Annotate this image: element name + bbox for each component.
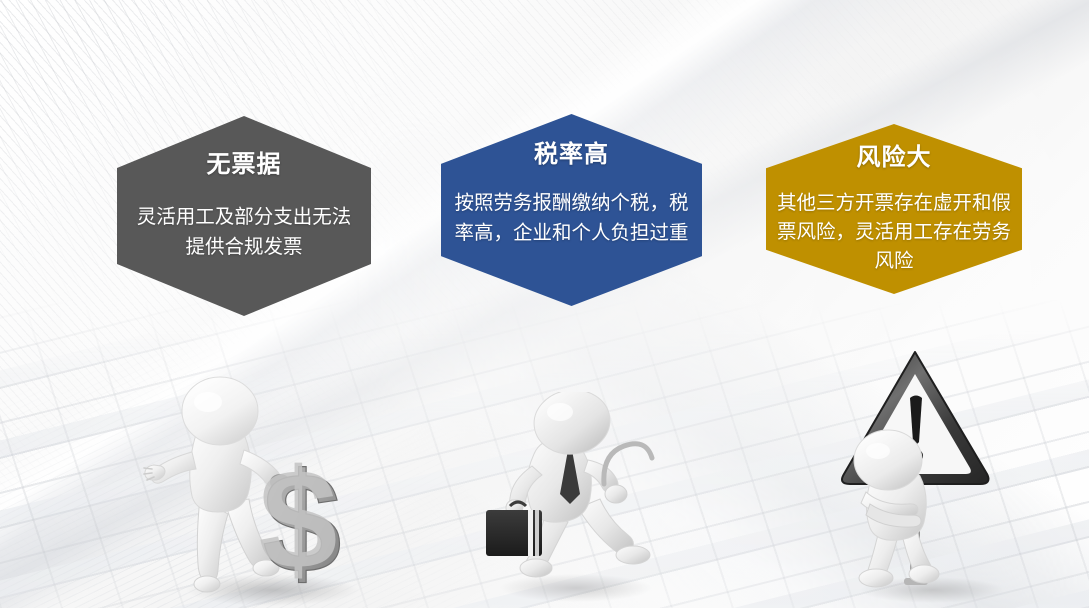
hexagon-card-body: 其他三方开票存在虚开和假票风险，灵活用工存在劳务风险 xyxy=(774,189,1014,276)
hexagon-card-high-risk[interactable]: 风险大 其他三方开票存在虚开和假票风险，灵活用工存在劳务风险 xyxy=(766,124,1022,294)
background-vignette xyxy=(0,0,1089,608)
svg-text:$: $ xyxy=(259,440,338,599)
background-window-rows xyxy=(0,300,1089,608)
background-facade-detail xyxy=(0,0,1089,608)
background-base xyxy=(0,0,1089,608)
hexagon-card-body: 按照劳务报酬缴纳个税，税率高，企业和个人负担过重 xyxy=(454,188,690,248)
hexagon-card-no-invoice[interactable]: 无票据 灵活用工及部分支出无法提供合规发票 xyxy=(117,116,371,316)
background-light-streak-secondary xyxy=(0,0,1089,608)
hexagon-card-title: 无票据 xyxy=(207,150,282,180)
hexagon-card-high-tax[interactable]: 税率高 按照劳务报酬缴纳个税，税率高，企业和个人负担过重 xyxy=(441,114,702,306)
hexagon-card-title: 税率高 xyxy=(534,140,609,170)
background-ridge-top-right xyxy=(0,0,1089,608)
background-window-columns xyxy=(0,300,1089,608)
hexagon-card-body: 灵活用工及部分支出无法提供合规发票 xyxy=(132,202,356,262)
background-window-panels xyxy=(0,330,1089,608)
businessman-figure-illustration xyxy=(468,392,678,608)
background-stairs-lower-left xyxy=(0,0,1089,608)
background-light-streak-primary xyxy=(0,0,1089,608)
svg-text:$: $ xyxy=(263,444,342,603)
hexagon-card-title: 风险大 xyxy=(857,143,932,173)
background-facade-upper-left xyxy=(0,0,1089,608)
dollar-figure-illustration: $ $ xyxy=(140,372,370,608)
slide-canvas: $ $ xyxy=(0,0,1089,608)
warning-sign-figure-illustration xyxy=(836,346,1048,608)
